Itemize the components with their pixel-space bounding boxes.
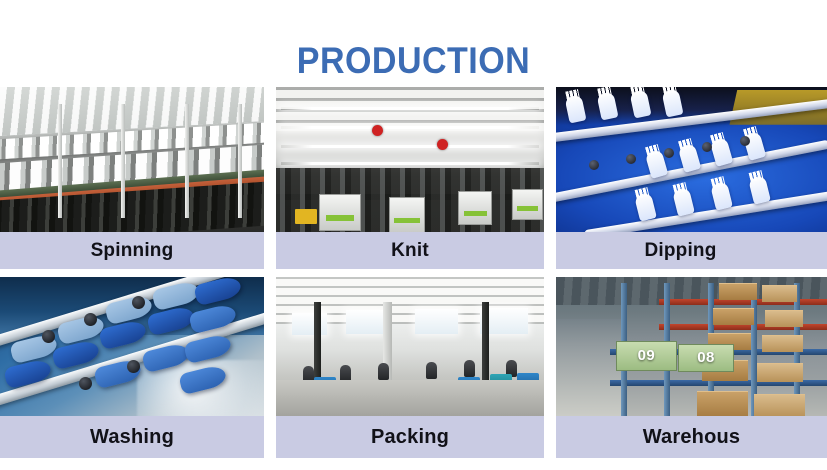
photo-knit [276,87,544,232]
dipping-scene [556,87,827,232]
washing-former-mount [42,330,55,343]
knit-ceiling-lamp [281,107,538,110]
spinning-frame-post [238,104,242,217]
knit-ceiling-lamp [281,145,538,148]
dipping-hand-former [748,175,771,204]
photo-packing [276,277,544,416]
gallery-item-washing[interactable]: Washing [0,277,264,460]
knit-control-panel [319,194,361,231]
photo-spinning [0,87,264,232]
knit-control-panel [389,197,426,232]
dipping-rail-roller [702,142,712,152]
knit-control-panel [512,189,543,220]
warehouse-carton [713,308,754,326]
knit-ceiling-lamp [281,162,538,165]
knit-yellow-bin [295,209,317,224]
warehouse-aisle-sign-09: 09 [616,341,678,371]
packing-scene [276,277,544,416]
packing-worker [378,363,389,380]
warehouse-carton [754,394,805,416]
warehouse-carton [762,335,803,351]
caption-spinning: Spinning [0,232,264,269]
photo-washing [0,277,264,416]
packing-floor [276,380,544,416]
packing-worker [464,360,475,377]
warehouse-carton [719,283,757,301]
spinning-frame-post [121,104,125,217]
gallery-item-spinning[interactable]: Spinning [0,87,264,270]
caption-dipping: Dipping [556,232,827,269]
caption-warehouse: Warehous [556,416,827,458]
spinning-frame-post [185,104,189,217]
gallery-item-dipping[interactable]: Dipping [556,87,827,270]
page-title: PRODUCTION [33,39,794,83]
dipping-rail-roller [589,160,599,170]
gallery-item-knit[interactable]: Knit [276,87,544,270]
washing-former-mount [79,377,92,390]
packing-window [346,310,384,334]
photo-dipping [556,87,827,232]
dipping-rail-roller [664,148,674,158]
production-gallery: Spinning Knit [0,87,827,462]
knit-ceiling-lamp [281,126,538,129]
caption-washing: Washing [0,416,264,458]
washing-scene [0,277,264,416]
warehouse-scene: 09 08 [556,277,827,416]
gallery-item-packing[interactable]: Packing [276,277,544,460]
dipping-hand-former [672,187,695,216]
dipping-hand-former [710,181,733,210]
gallery-item-warehouse[interactable]: 09 08 Warehous [556,277,827,460]
warehouse-carton [757,363,803,382]
knit-scene [276,87,544,232]
warehouse-carton [762,285,797,301]
caption-knit: Knit [276,232,544,269]
dipping-hand-former [634,193,657,222]
dipping-rail-roller [626,154,636,164]
photo-warehouse: 09 08 [556,277,827,416]
warehouse-aisle-sign-08: 08 [678,344,734,372]
spinning-scene [0,87,264,232]
packing-window [415,309,458,334]
packing-window [292,313,327,335]
dipping-former-rail [584,188,827,232]
knit-warning-sign [372,125,383,136]
spinning-frame-post [58,104,62,217]
warehouse-carton [765,310,803,326]
knit-warning-sign [437,139,448,150]
packing-worker [426,362,437,379]
caption-packing: Packing [276,416,544,458]
knit-control-panel [458,191,492,225]
warehouse-carton [697,391,748,416]
